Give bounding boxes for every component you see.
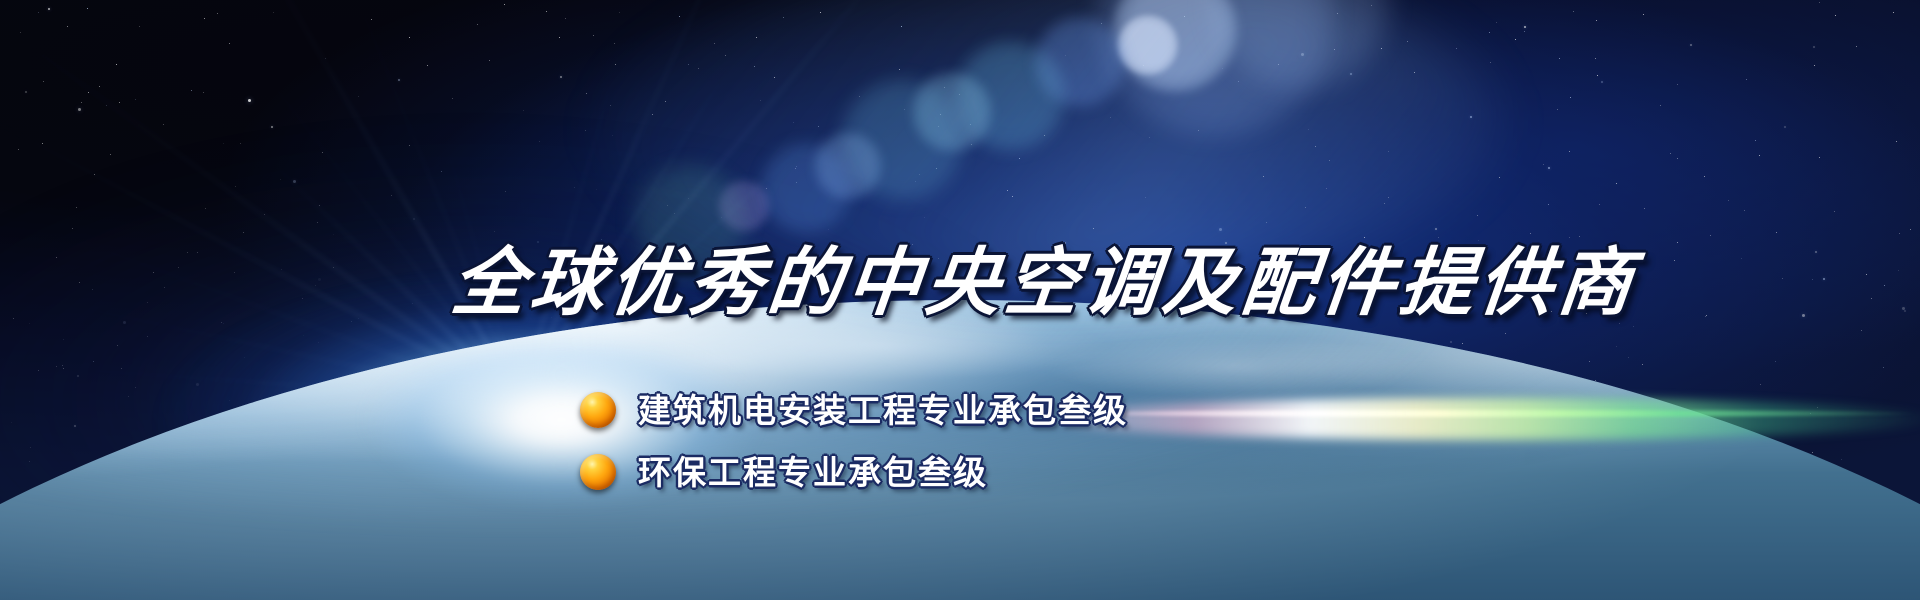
bullet-item-2: 环保工程专业承包叁级	[580, 450, 1128, 494]
banner-bullet-list: 建筑机电安装工程专业承包叁级 环保工程专业承包叁级	[580, 388, 1128, 494]
banner-headline: 全球优秀的中央空调及配件提供商	[448, 246, 1641, 320]
orange-sphere-bullet-icon	[580, 392, 616, 428]
banner-content: 全球优秀的中央空调及配件提供商 建筑机电安装工程专业承包叁级 环保工程专业承包叁…	[0, 0, 1920, 600]
orange-sphere-bullet-icon	[580, 454, 616, 490]
bullet-item-2-label: 环保工程专业承包叁级	[638, 456, 988, 489]
bullet-item-1: 建筑机电安装工程专业承包叁级	[580, 388, 1128, 432]
hero-banner: 全球优秀的中央空调及配件提供商 建筑机电安装工程专业承包叁级 环保工程专业承包叁…	[0, 0, 1920, 600]
bullet-item-1-label: 建筑机电安装工程专业承包叁级	[638, 394, 1128, 427]
